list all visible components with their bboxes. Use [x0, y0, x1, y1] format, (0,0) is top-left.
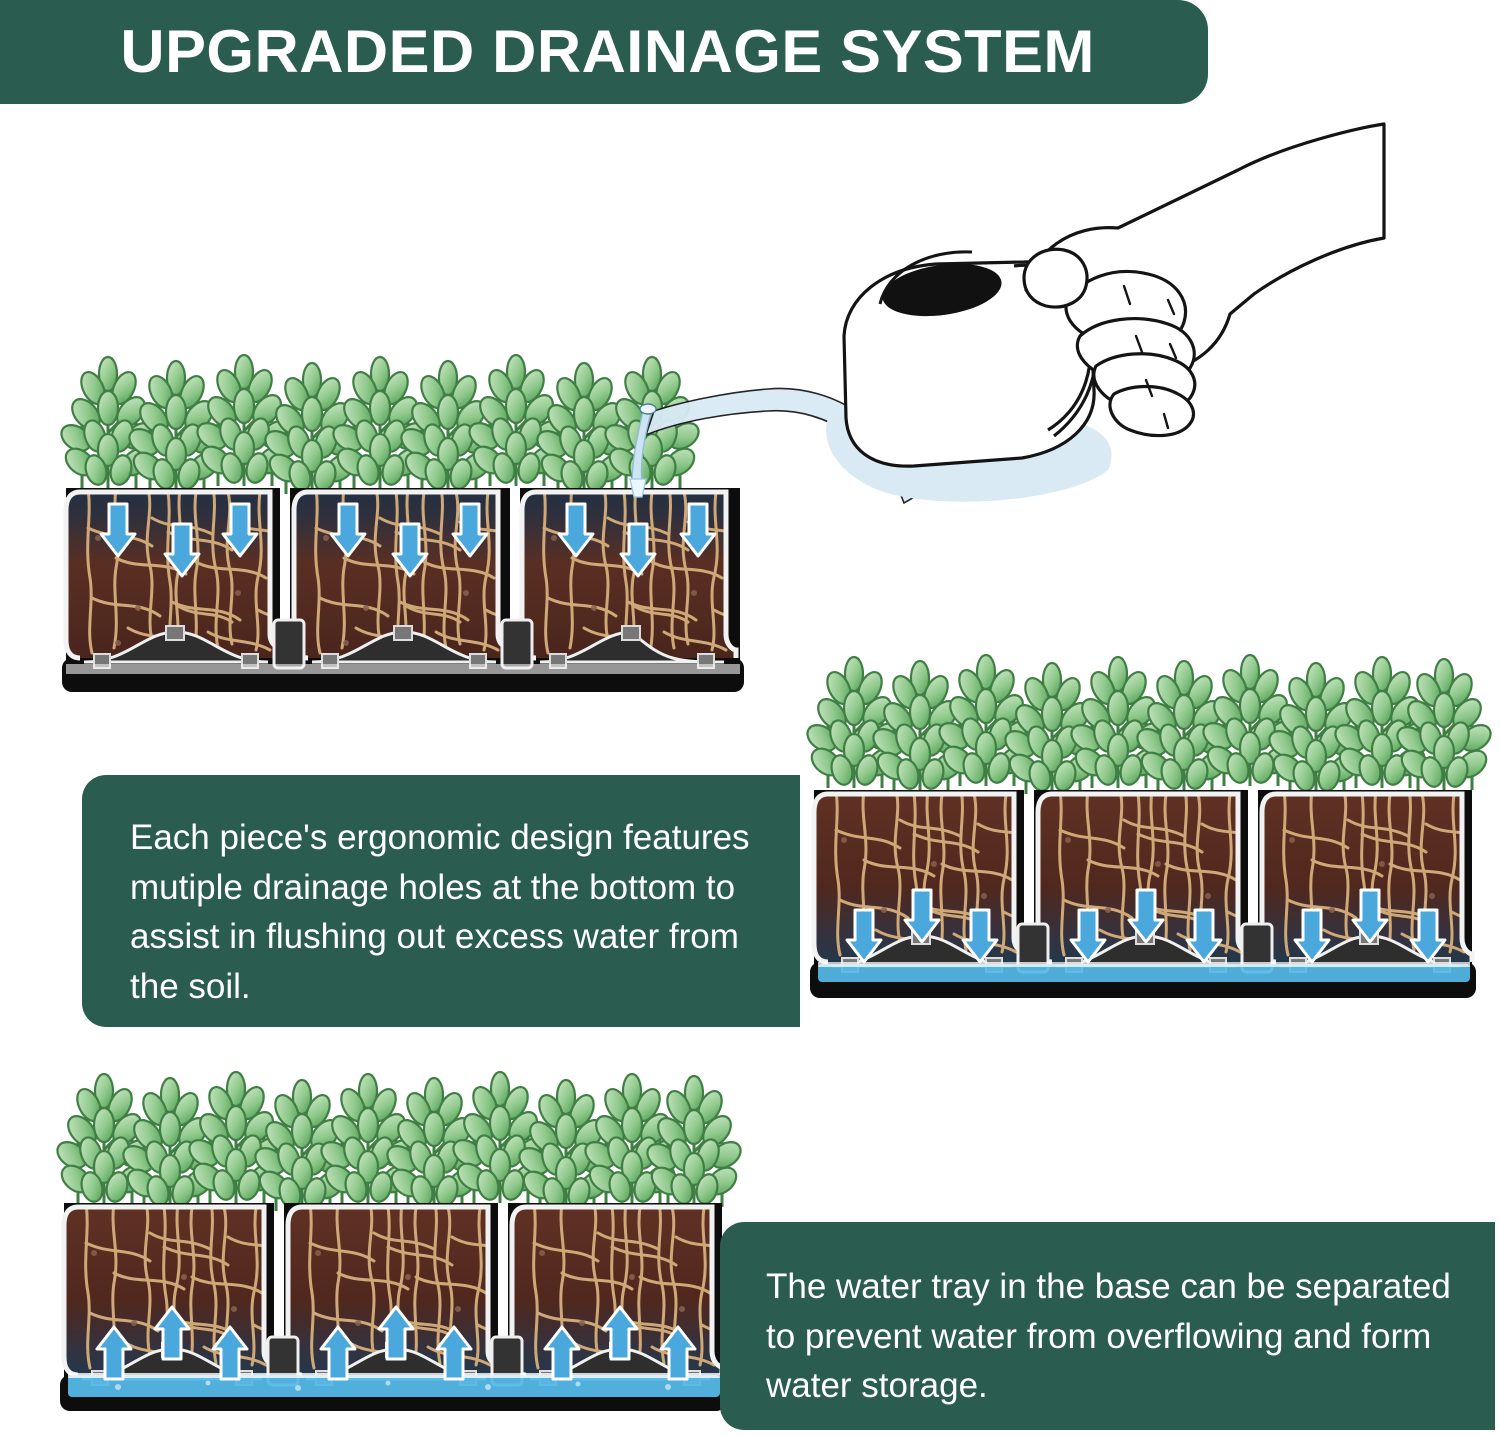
- callout-drainage-holes: Each piece's ergonomic design features m…: [82, 775, 800, 1027]
- illustration-planter-draining: [808, 658, 1480, 1023]
- callout-text: The water tray in the base can be separa…: [766, 1262, 1471, 1411]
- page-title: UPGRADED DRAINAGE SYSTEM: [0, 22, 1095, 82]
- drainage-base: [66, 620, 740, 674]
- callout-water-tray: The water tray in the base can be separa…: [720, 1222, 1495, 1430]
- callout-text: Each piece's ergonomic design features m…: [130, 813, 782, 1012]
- tray-water: [68, 1375, 720, 1397]
- header-banner: UPGRADED DRAINAGE SYSTEM: [0, 0, 1208, 104]
- illustration-planter-wicking: [58, 1075, 730, 1435]
- illustration-watering-can: [818, 118, 1388, 528]
